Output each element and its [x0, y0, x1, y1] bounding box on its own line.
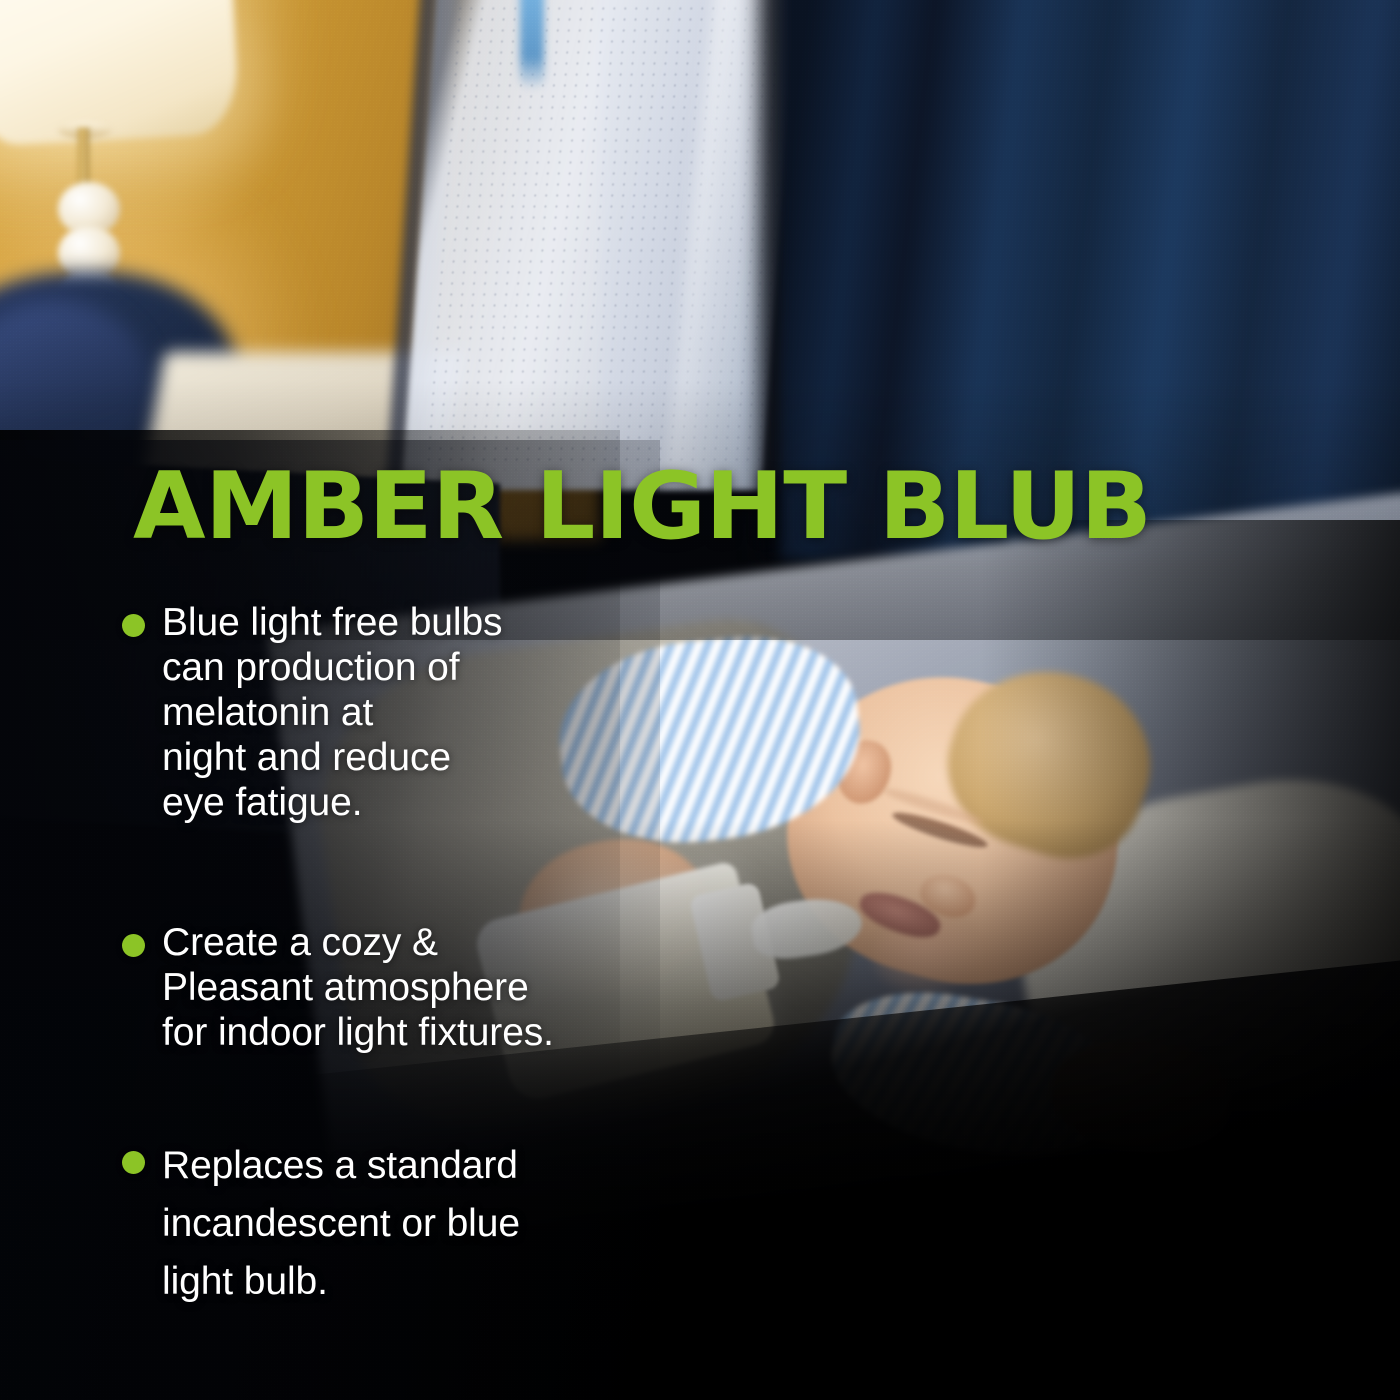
list-item-text: Create a cozy & Pleasant atmosphere for …: [162, 920, 678, 1055]
list-item-text: Replaces a standard incandescent or blue…: [162, 1137, 678, 1311]
list-item-text: Blue light free bulbs can production of …: [162, 600, 678, 825]
list-item: Create a cozy & Pleasant atmosphere for …: [118, 920, 678, 1055]
bullet-dot-icon: [122, 934, 145, 957]
poster-canvas: AMBER LIGHT BLUB Blue light free bulbs c…: [0, 0, 1400, 1400]
bullet-dot-icon: [122, 614, 145, 637]
poster-content: AMBER LIGHT BLUB Blue light free bulbs c…: [0, 0, 1400, 1400]
feature-bullet-list: Blue light free bulbs can production of …: [118, 600, 678, 1311]
poster-title: AMBER LIGHT BLUB: [133, 462, 1208, 550]
list-item: Blue light free bulbs can production of …: [118, 600, 678, 825]
bullet-dot-icon: [122, 1151, 145, 1174]
list-item: Replaces a standard incandescent or blue…: [118, 1137, 678, 1311]
